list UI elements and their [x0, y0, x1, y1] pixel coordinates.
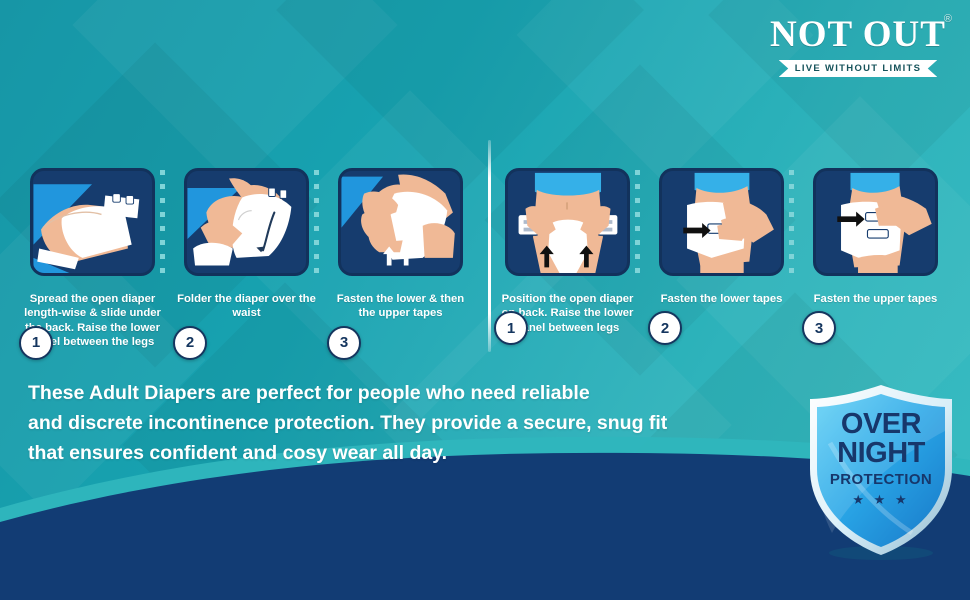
brand-name: NOT OUT — [770, 16, 946, 53]
step-card[interactable]: 3 Fasten the upper tapes — [813, 168, 940, 335]
step-number-badge: 1 — [19, 326, 53, 360]
diaper-fasten-lower-tapes-illustration — [659, 168, 784, 276]
step-card[interactable]: 1 Spread the open diaper length-wise & s… — [30, 168, 157, 350]
step-number-badge: 2 — [648, 311, 682, 345]
brand-logo: NOT OUT ® LIVE WITHOUT LIMITS — [768, 16, 948, 77]
instruction-steps-area: 1 Spread the open diaper length-wise & s… — [0, 168, 970, 358]
diaper-fold-over-waist-illustration — [184, 168, 309, 276]
step-caption: Fasten the upper tapes — [805, 292, 946, 306]
step-card[interactable]: 2 Folder the diaper over the waist — [184, 168, 311, 350]
shield-icon — [806, 383, 956, 561]
description-line-3: that ensures confident and cosy wear all… — [28, 438, 728, 468]
step-dotted-separator — [160, 170, 165, 282]
diaper-fasten-tapes-illustration — [338, 168, 463, 276]
step-card[interactable]: 1 Position the open diaper on back. Rais… — [505, 168, 632, 335]
marketing-description: These Adult Diapers are perfect for peop… — [28, 378, 728, 469]
diaper-fasten-upper-tapes-illustration — [813, 168, 938, 276]
brand-tagline: LIVE WITHOUT LIMITS — [779, 60, 938, 77]
step-card[interactable]: 2 Fasten the lower tapes — [659, 168, 786, 335]
step-caption: Folder the diaper over the waist — [176, 292, 317, 321]
step-dotted-separator — [789, 170, 794, 282]
step-caption: Fasten the lower tapes — [651, 292, 792, 306]
instruction-group-standing: 1 Position the open diaper on back. Rais… — [505, 168, 940, 335]
step-number-badge: 1 — [494, 311, 528, 345]
step-number-badge: 2 — [173, 326, 207, 360]
step-dotted-separator — [635, 170, 640, 282]
description-line-1: These Adult Diapers are perfect for peop… — [28, 378, 728, 408]
step-caption: Fasten the lower & then the upper tapes — [330, 292, 471, 321]
instruction-group-lying-down: 1 Spread the open diaper length-wise & s… — [30, 168, 465, 350]
step-dotted-separator — [314, 170, 319, 282]
registered-trademark-icon: ® — [944, 14, 953, 25]
shield-badge: OVER NIGHT PROTECTION ★ ★ ★ — [806, 383, 956, 561]
step-number-badge: 3 — [327, 326, 361, 360]
infographic-canvas: NOT OUT ® LIVE WITHOUT LIMITS — [0, 0, 970, 600]
description-line-2: and discrete incontinence protection. Th… — [28, 408, 728, 438]
step-number-badge: 3 — [802, 311, 836, 345]
step-card[interactable]: 3 Fasten the lower & then the upper tape… — [338, 168, 465, 350]
diaper-position-on-back-illustration — [505, 168, 630, 276]
diaper-slide-under-back-illustration — [30, 168, 155, 276]
